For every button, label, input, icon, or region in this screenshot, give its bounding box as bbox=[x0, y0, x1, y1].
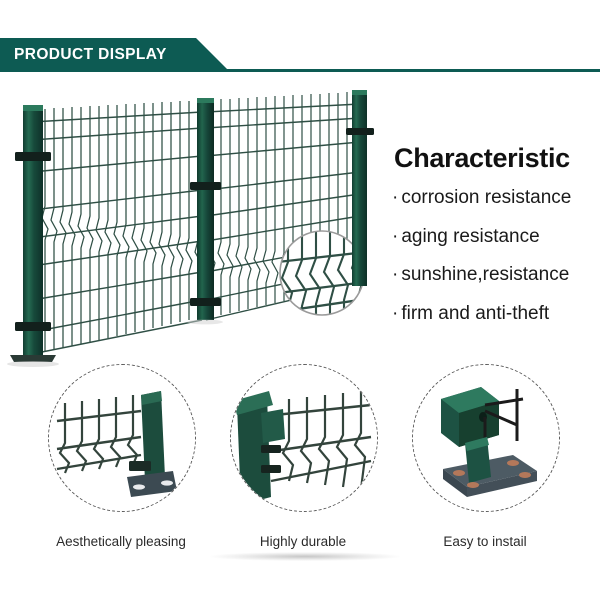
bullet-icon: · bbox=[392, 227, 398, 248]
hero-product-image bbox=[0, 86, 385, 371]
feature-caption: Highly durable bbox=[208, 534, 398, 549]
characteristic-label: corrosion resistance bbox=[401, 188, 571, 209]
mesh-panel-left bbox=[32, 100, 202, 354]
post-clamp bbox=[261, 409, 285, 443]
post-clamp bbox=[190, 298, 221, 306]
feature-caption: Aesthetically pleasing bbox=[26, 534, 216, 549]
fence-illustration bbox=[0, 86, 385, 371]
characteristic-item-0: · corrosion resistance bbox=[392, 188, 597, 209]
post-clamp bbox=[15, 322, 51, 331]
post-base-plate bbox=[10, 355, 56, 362]
fence-panel-with-base-plate-photo bbox=[48, 364, 196, 512]
fence-post-middle bbox=[187, 98, 223, 324]
banner-underline-rule bbox=[214, 69, 600, 72]
characteristic-item-3: · firm and anti-theft bbox=[392, 304, 597, 325]
post-cap-clamp-and-base-plate-photo bbox=[412, 364, 560, 512]
post-clamp bbox=[129, 461, 151, 471]
characteristics-title: Characteristic bbox=[394, 144, 597, 174]
bullet-icon: · bbox=[392, 304, 398, 325]
characteristic-item-1: · aging resistance bbox=[392, 227, 597, 248]
bullet-icon: · bbox=[392, 265, 398, 286]
characteristic-label: firm and anti-theft bbox=[401, 304, 549, 325]
header-banner: PRODUCT DISPLAY bbox=[0, 38, 600, 72]
feature-item-0: Aesthetically pleasing bbox=[26, 362, 216, 562]
bullet-icon: · bbox=[392, 188, 398, 209]
feature-caption: Easy to instail bbox=[390, 534, 580, 549]
features-row: Aesthetically pleasing bbox=[0, 362, 600, 562]
characteristic-item-2: · sunshine,resistance bbox=[392, 265, 597, 286]
feature-item-2: Easy to instail bbox=[390, 362, 580, 562]
post-cap-and-clamp-photo bbox=[230, 364, 378, 512]
page-title: PRODUCT DISPLAY bbox=[14, 38, 167, 72]
characteristics-panel: Characteristic · corrosion resistance · … bbox=[392, 144, 597, 343]
feature-item-1: Highly durable bbox=[208, 362, 398, 562]
post-clamp bbox=[15, 152, 51, 161]
post-clamp bbox=[190, 182, 221, 190]
characteristic-label: aging resistance bbox=[401, 227, 539, 248]
post-clamp bbox=[346, 128, 374, 135]
characteristic-label: sunshine,resistance bbox=[401, 265, 569, 286]
